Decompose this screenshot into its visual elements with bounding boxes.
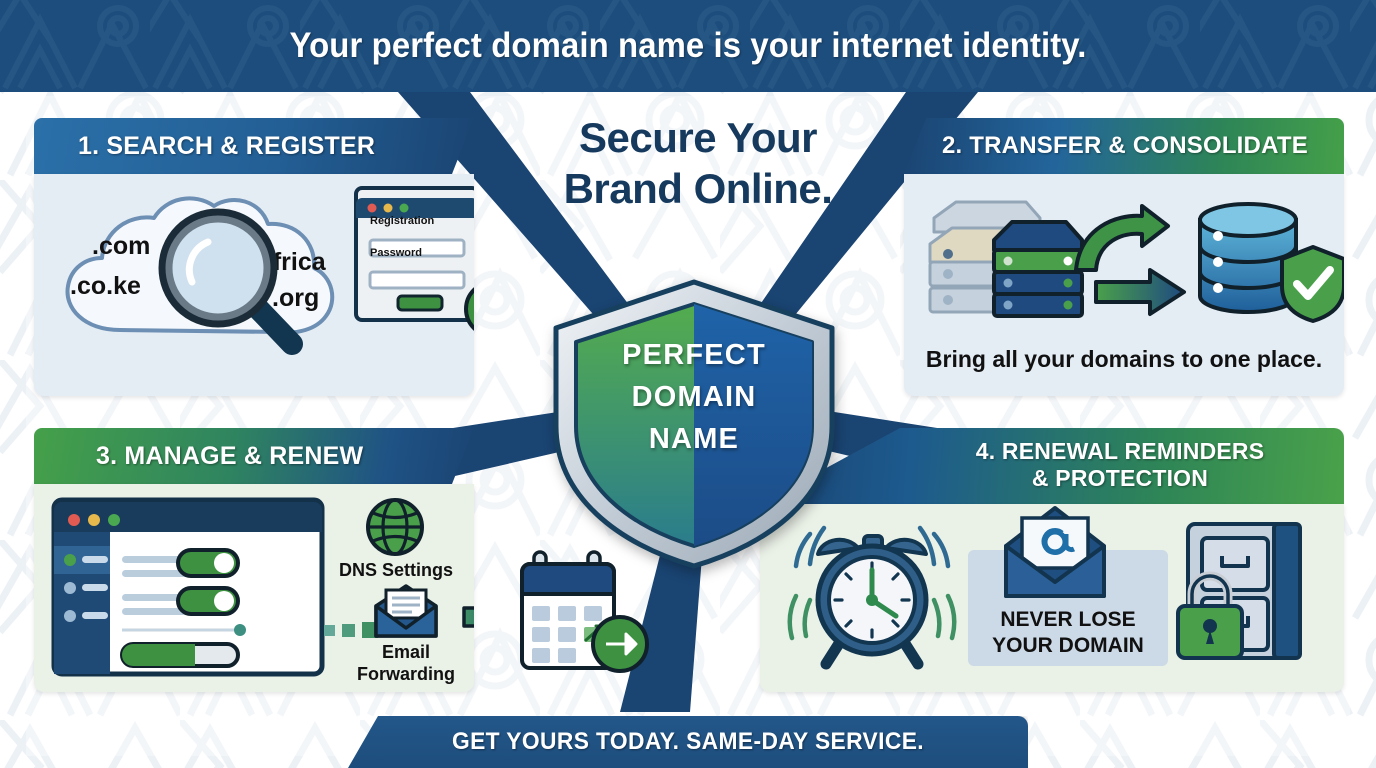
panel-1-body: .com .co.ke .africa .org: [34, 174, 474, 396]
panel-2-heading: 2. TRANSFER & CONSOLIDATE: [904, 118, 1344, 174]
panel-4-body: NEVER LOSE YOUR DOMAIN: [760, 504, 1344, 692]
panel-4-heading-line1: 4. RENEWAL REMINDERS: [920, 438, 1320, 465]
check-badge-icon: [462, 278, 474, 340]
renew-arrow-icon: [462, 596, 474, 638]
straight-transfer-arrow-icon: [1094, 266, 1188, 318]
filing-cabinet-icon: [1174, 516, 1322, 666]
magnifier-icon: [152, 202, 312, 362]
password-label: Password: [370, 247, 422, 259]
center-title: Secure Your Brand Online.: [498, 112, 898, 214]
panel-2-caption: Bring all your domains to one place.: [904, 346, 1344, 373]
footer-text: GET YOURS TODAY. SAME-DAY SERVICE.: [365, 716, 1011, 768]
banner-title: Your perfect domain name is your interne…: [41, 0, 1334, 92]
registration-window[interactable]: [352, 184, 474, 344]
curved-transfer-arrow-icon: [1064, 202, 1172, 276]
panel-manage-renew[interactable]: 3. MANAGE & RENEW: [34, 428, 474, 692]
panel-transfer-consolidate[interactable]: 2. TRANSFER & CONSOLIDATE: [904, 118, 1344, 396]
panel-search-register[interactable]: 1. SEARCH & REGISTER .com .co.ke .africa…: [34, 118, 474, 396]
dns-settings-label: DNS Settings: [334, 560, 458, 581]
globe-icon: [364, 496, 426, 558]
dashboard-window[interactable]: [50, 496, 326, 678]
shield-check-icon: [1278, 244, 1344, 324]
never-lose-line2: YOUR DOMAIN: [968, 634, 1168, 658]
email-envelope-icon: [372, 584, 440, 640]
email-forwarding-label-line1: Email: [334, 642, 474, 663]
panel-4-heading: 4. RENEWAL REMINDERS & PROTECTION: [760, 428, 1344, 504]
registration-label: Registration: [370, 215, 434, 227]
center-title-line1: Secure Your: [498, 112, 898, 163]
tld-com: .com: [92, 232, 150, 261]
never-lose-line1: NEVER LOSE: [968, 608, 1168, 632]
email-forwarding-label-line2: Forwarding: [334, 664, 474, 685]
email-at-icon: [1000, 504, 1110, 604]
footer-banner: GET YOURS TODAY. SAME-DAY SERVICE.: [348, 716, 1028, 768]
panel-4-heading-line2: & PROTECTION: [920, 465, 1320, 492]
panel-3-body: DNS Settings Email Forwarding: [34, 484, 474, 692]
center-title-line2: Brand Online.: [498, 163, 898, 214]
tld-coke: .co.ke: [70, 272, 141, 301]
panel-3-heading: 3. MANAGE & RENEW: [34, 428, 474, 484]
panel-1-heading: 1. SEARCH & REGISTER: [34, 118, 474, 174]
panel-renewal-protection[interactable]: 4. RENEWAL REMINDERS & PROTECTION: [760, 428, 1344, 692]
calendar-renew-badge-icon: [588, 612, 652, 676]
panel-2-body: Bring all your domains to one place.: [904, 174, 1344, 396]
central-shield: PERFECT DOMAIN NAME: [548, 278, 840, 570]
top-banner: Your perfect domain name is your interne…: [0, 0, 1376, 92]
